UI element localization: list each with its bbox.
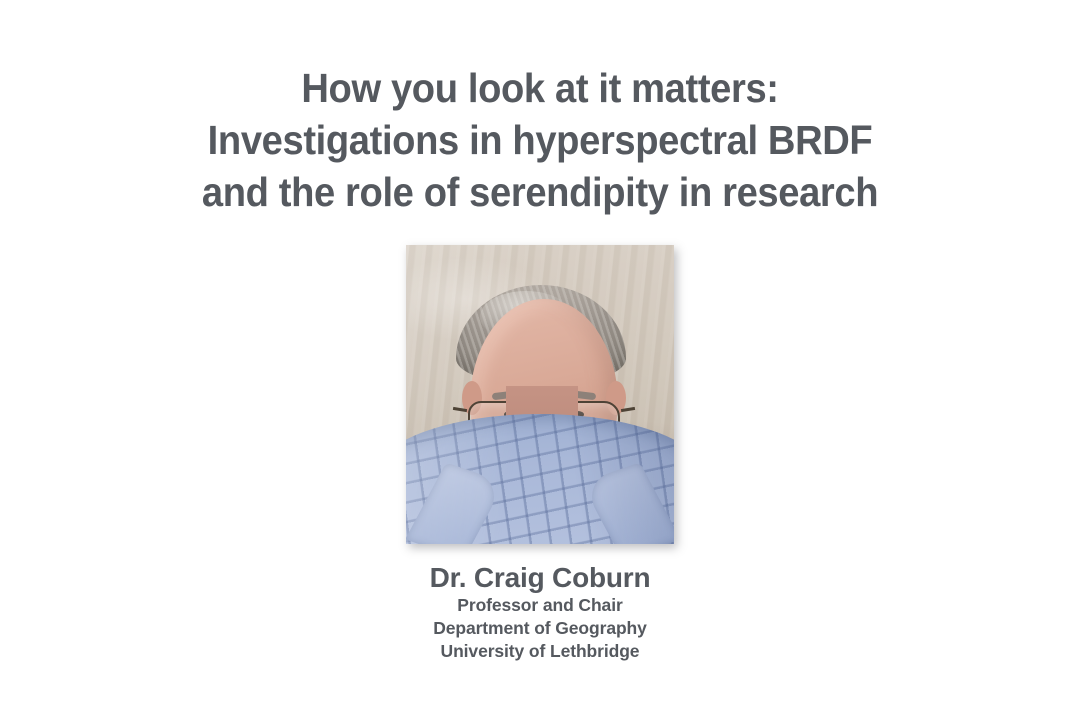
presentation-title: How you look at it matters: Investigatio… <box>40 62 1040 218</box>
speaker-credit: Dr. Craig Coburn Professor and Chair Dep… <box>430 562 651 663</box>
speaker-title: Professor and Chair <box>430 594 651 617</box>
speaker-portrait-photo <box>406 245 674 544</box>
title-line-3: and the role of serendipity in research <box>75 166 1005 218</box>
shirt-shape <box>406 414 674 544</box>
collar-left-shape <box>406 462 505 544</box>
speaker-institution: University of Lethbridge <box>430 640 651 663</box>
title-line-1: How you look at it matters: <box>75 62 1005 114</box>
title-line-2: Investigations in hyperspectral BRDF <box>75 114 1005 166</box>
speaker-department: Department of Geography <box>430 617 651 640</box>
collar-right-shape <box>581 462 674 544</box>
speaker-name: Dr. Craig Coburn <box>430 562 651 594</box>
portrait-image <box>406 245 674 544</box>
title-slide: How you look at it matters: Investigatio… <box>0 0 1080 720</box>
